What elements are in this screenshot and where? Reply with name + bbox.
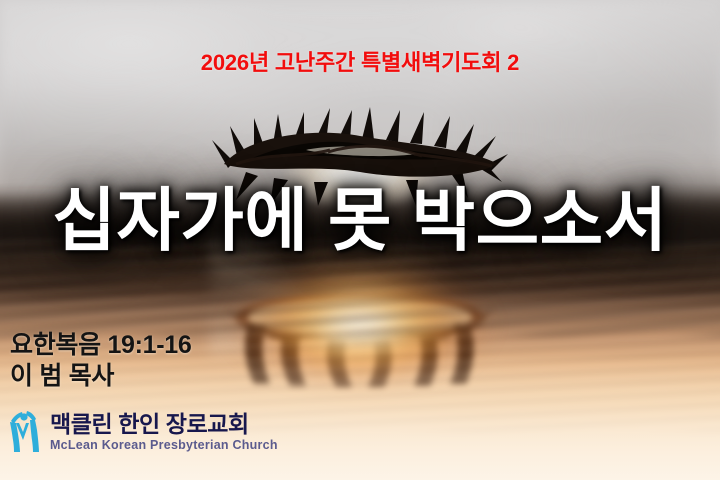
scripture-reference: 요한복음 19:1-16 [10, 330, 192, 361]
church-logo: 맥클린 한인 장로교회 McLean Korean Presbyterian C… [6, 410, 278, 454]
sermon-title-slide: 2026년 고난주간 특별새벽기도회 2 십자가에 못 박으소서 요한복음 19… [0, 0, 720, 480]
church-name-korean: 맥클린 한인 장로교회 [50, 413, 278, 436]
page-title: 십자가에 못 박으소서 [0, 186, 720, 255]
scripture-and-speaker-block: 요한복음 19:1-16 이 범 목사 [10, 330, 192, 391]
mclean-church-figure-m-icon [6, 410, 46, 454]
speaker-name: 이 범 목사 [10, 361, 192, 392]
motion-blur-streaks-dark [0, 250, 720, 336]
church-logo-text: 맥클린 한인 장로교회 McLean Korean Presbyterian C… [50, 413, 278, 452]
series-title: 2026년 고난주간 특별새벽기도회 2 [0, 52, 720, 74]
church-name-english: McLean Korean Presbyterian Church [50, 439, 278, 452]
